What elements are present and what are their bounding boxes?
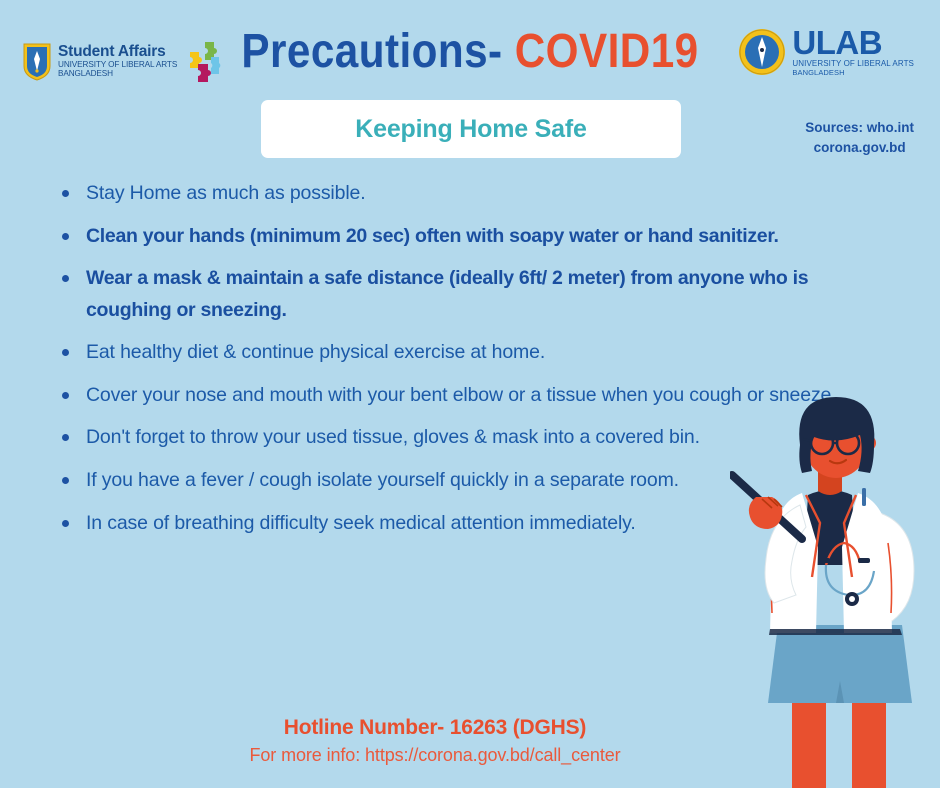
bullet-dot-icon	[62, 520, 69, 527]
ulab-seal-icon	[738, 28, 786, 76]
title-precautions: Precautions-	[241, 25, 514, 78]
bullet-dot-icon	[62, 190, 69, 197]
list-item: Don't forget to throw your used tissue, …	[62, 422, 852, 454]
list-item: If you have a fever / cough isolate your…	[62, 465, 852, 497]
list-item: Clean your hands (minimum 20 sec) often …	[62, 221, 852, 253]
list-item: Eat healthy diet & continue physical exe…	[62, 337, 852, 369]
list-item: Wear a mask & maintain a safe distance (…	[62, 263, 852, 326]
list-item-text: Clean your hands (minimum 20 sec) often …	[86, 221, 779, 253]
list-item-text: Stay Home as much as possible.	[86, 178, 365, 210]
bullet-dot-icon	[62, 434, 69, 441]
list-item: Cover your nose and mouth with your bent…	[62, 380, 852, 412]
bullet-dot-icon	[62, 275, 69, 282]
list-item-text: Don't forget to throw your used tissue, …	[86, 422, 700, 454]
list-item-text: Eat healthy diet & continue physical exe…	[86, 337, 545, 369]
ulab-name: ULAB	[792, 28, 914, 58]
ulab-subtitle-1: UNIVERSITY OF LIBERAL ARTS	[792, 60, 914, 68]
poster-canvas: Student Affairs UNIVERSITY OF LIBERAL AR…	[0, 0, 940, 788]
ulab-logo: ULAB UNIVERSITY OF LIBERAL ARTS BANGLADE…	[738, 28, 914, 77]
hotline-number: Hotline Number- 16263 (DGHS)	[0, 716, 870, 740]
sources-block: Sources: who.int corona.gov.bd	[805, 118, 914, 159]
subtitle-banner: Keeping Home Safe	[261, 100, 681, 158]
ulab-text: ULAB UNIVERSITY OF LIBERAL ARTS BANGLADE…	[792, 28, 914, 77]
more-info-link[interactable]: For more info: https://corona.gov.bd/cal…	[0, 745, 870, 766]
subtitle-text: Keeping Home Safe	[355, 115, 586, 144]
list-item: In case of breathing difficulty seek med…	[62, 508, 852, 540]
footer-block: Hotline Number- 16263 (DGHS) For more in…	[0, 716, 940, 766]
sources-line-1: Sources: who.int	[805, 118, 914, 138]
list-item: Stay Home as much as possible.	[62, 178, 852, 210]
list-item-text: Wear a mask & maintain a safe distance (…	[86, 263, 852, 326]
shield-crest-icon	[22, 41, 52, 81]
bullet-dot-icon	[62, 233, 69, 240]
bullet-dot-icon	[62, 477, 69, 484]
bullet-dot-icon	[62, 349, 69, 356]
list-item-text: If you have a fever / cough isolate your…	[86, 465, 679, 497]
list-item-text: Cover your nose and mouth with your bent…	[86, 380, 837, 412]
list-item-text: In case of breathing difficulty seek med…	[86, 508, 636, 540]
title-covid19: COVID19	[515, 25, 699, 78]
sources-line-2: corona.gov.bd	[805, 138, 914, 158]
bullet-dot-icon	[62, 392, 69, 399]
ulab-subtitle-2: BANGLADESH	[792, 69, 914, 77]
precautions-list: Stay Home as much as possible. Clean you…	[62, 178, 852, 550]
